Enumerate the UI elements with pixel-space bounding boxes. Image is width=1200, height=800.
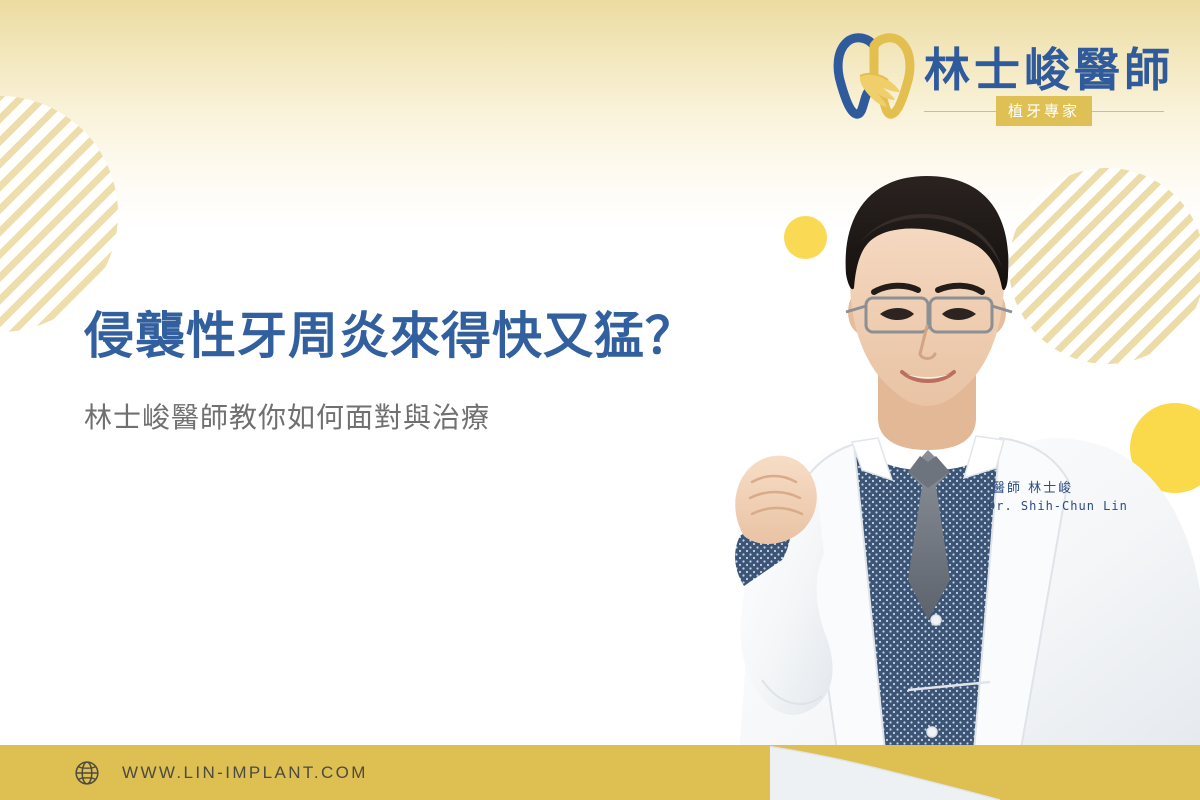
brand-tagline-badge: 植牙專家 [996, 96, 1092, 126]
footer-website-url[interactable]: WWW.LIN-IMPLANT.COM [122, 763, 368, 783]
svg-text:Dr. Shih-Chun Lin: Dr. Shih-Chun Lin [988, 499, 1128, 513]
badge-line-left [924, 111, 996, 112]
footer-content: WWW.LIN-IMPLANT.COM [0, 760, 368, 786]
svg-text:醫師 林士峻: 醫師 林士峻 [992, 480, 1073, 496]
brand-logo[interactable]: 林士峻醫師 植牙專家 [828, 28, 1168, 140]
banner-canvas: 林士峻醫師 植牙專家 侵襲性牙周炎來得快又猛？ 林士峻醫師教你如何面對與治療 [0, 0, 1200, 800]
badge-line-right [1092, 111, 1164, 112]
globe-icon [74, 760, 100, 786]
doctor-coat-footer-overlap [770, 745, 1070, 800]
doctor-portrait: 醫師 林士峻 Dr. Shih-Chun Lin [640, 150, 1200, 800]
tooth-with-hand-logo-icon [828, 30, 920, 122]
footer-bar: WWW.LIN-IMPLANT.COM [0, 745, 1200, 800]
brand-name: 林士峻醫師 [924, 34, 1174, 100]
brand-tagline-row: 植牙專家 [924, 94, 1164, 128]
doctor-portrait-illustration: 醫師 林士峻 Dr. Shih-Chun Lin [640, 150, 1200, 800]
